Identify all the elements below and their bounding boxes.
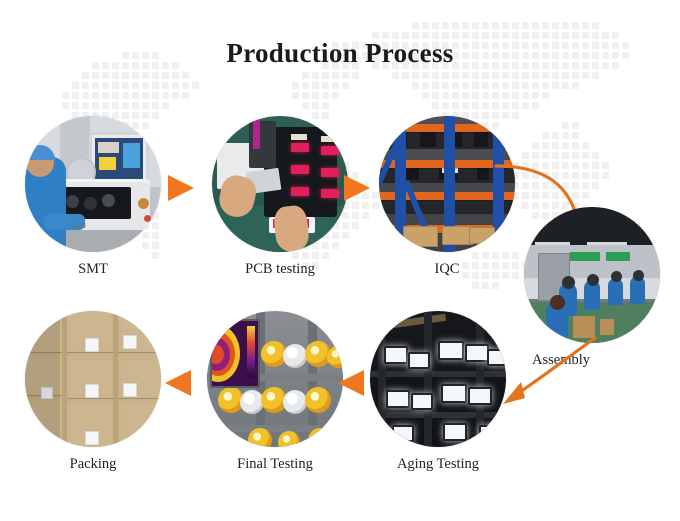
- final-testing-scene-art: [207, 311, 343, 447]
- step-final-testing[interactable]: Final Testing: [207, 311, 343, 473]
- step-aging-testing[interactable]: Aging Testing: [370, 311, 506, 473]
- pcb-testing-scene-art: [212, 116, 348, 252]
- step-aging-testing-label: Aging Testing: [370, 456, 506, 473]
- step-aging-testing-image: [370, 311, 506, 447]
- step-packing-image: [25, 311, 161, 447]
- assembly-scene-art: [524, 207, 660, 343]
- step-smt-image: AOI: [25, 116, 161, 252]
- connector-pcb-to-iqc-arrow: [344, 175, 370, 201]
- step-assembly-image: [524, 207, 660, 343]
- page-title: Production Process: [0, 38, 680, 69]
- connector-assembly-to-aging-curve: [495, 336, 600, 414]
- step-pcb-testing-label: PCB testing: [212, 261, 348, 278]
- step-smt-label: SMT: [25, 261, 161, 278]
- connector-smt-to-pcb-arrow: [168, 175, 194, 201]
- step-smt[interactable]: AOI SMT: [25, 116, 161, 278]
- step-packing-label: Packing: [25, 456, 161, 473]
- step-iqc-label: IQC: [379, 261, 515, 278]
- production-process-infographic: Production Process AOI SMT: [0, 0, 680, 521]
- step-pcb-testing-image: [212, 116, 348, 252]
- connector-aging-to-final-arrow: [338, 370, 364, 396]
- connector-final-to-packing-arrow: [165, 370, 191, 396]
- step-packing[interactable]: Packing: [25, 311, 161, 473]
- packing-scene-art: [25, 311, 161, 447]
- step-pcb-testing[interactable]: PCB testing: [212, 116, 348, 278]
- step-final-testing-image: [207, 311, 343, 447]
- aging-testing-scene-art: [370, 311, 506, 447]
- step-final-testing-label: Final Testing: [207, 456, 343, 473]
- smt-scene-art: AOI: [25, 116, 161, 252]
